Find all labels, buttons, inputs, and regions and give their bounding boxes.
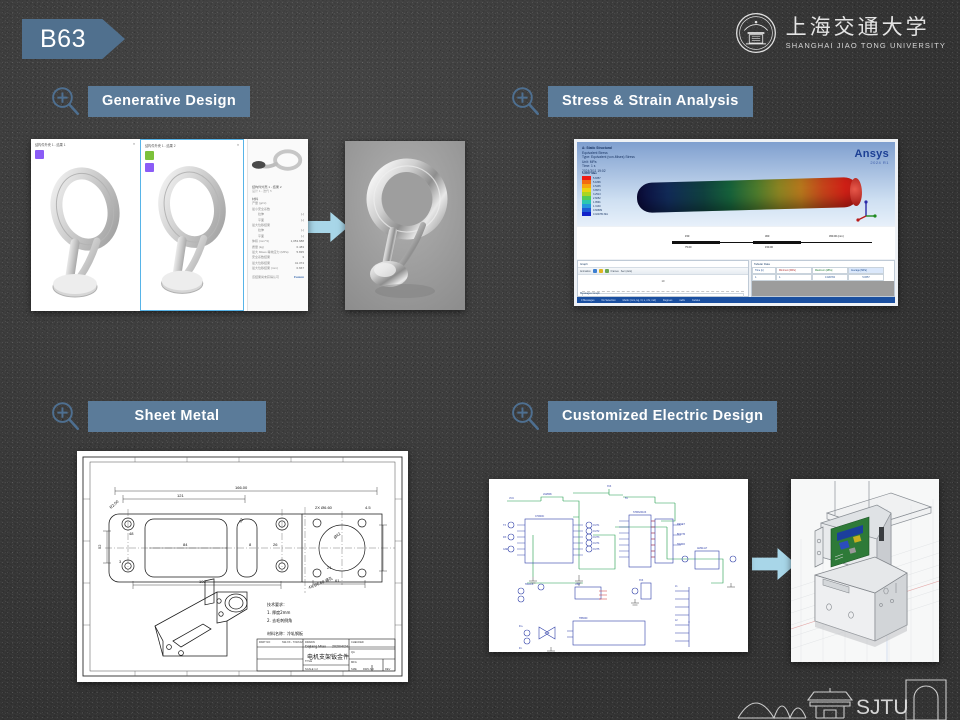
outcome-details-panel[interactable]: 结构件外壳 1 - 结果 2 设计 1 - 迭代 5 材料 产量 (g/cc) …	[247, 139, 308, 311]
svg-text:SWCLK: SWCLK	[525, 583, 534, 586]
ansys-result-title: A: Static Structural Equivalent Stress T…	[582, 146, 635, 174]
dim-sub: 75.00	[685, 246, 692, 249]
column-header: Minimum [MPa]	[776, 267, 812, 274]
legend-value: 5.1896	[593, 181, 601, 184]
svg-text:121: 121	[177, 493, 184, 498]
svg-text:OUT2: OUT2	[593, 530, 600, 533]
ansys-contour-legend: 5.8357 Max 5.8357 5.1896 4.5435 3.8974 3…	[582, 171, 616, 216]
outcome-b-title: 结构件外壳 1 - 结果 2	[145, 143, 175, 148]
dim-label: 150	[685, 235, 689, 238]
svg-text:5V: 5V	[625, 497, 628, 500]
enclosure-assembly-view[interactable]	[791, 479, 939, 662]
outcome-a-close-icon[interactable]: ×	[133, 142, 135, 147]
note-line: 材料名称：冷轧钢板	[267, 630, 303, 636]
svg-text:SW-XX - 7X18-02: SW-XX - 7X18-02	[282, 640, 303, 644]
sheet-metal-drawing[interactable]: 166.00 121 100 84 8 26 52 61 21 4.5 R2.0…	[77, 451, 408, 682]
status-item: rad/s	[679, 299, 685, 302]
column-header: Average [MPa]	[848, 267, 884, 274]
svg-text:DRAWN: DRAWN	[305, 640, 315, 644]
svg-text:IN-: IN-	[519, 647, 522, 650]
outcome-b-3d-view[interactable]	[141, 158, 243, 305]
svg-text:SCALE 1:2: SCALE 1:2	[305, 667, 318, 671]
svg-text:166.00: 166.00	[235, 485, 248, 490]
section-header-electric-design: Customized Electric Design	[508, 399, 777, 433]
legend-value: 2.6052	[593, 197, 601, 200]
ansys-3d-viewport[interactable]: A: Static Structural Equivalent Stress T…	[577, 142, 895, 226]
ansys-brand: Ansys 2024 R1	[854, 148, 889, 165]
svg-text:48: 48	[129, 531, 134, 536]
outcome-card-a[interactable]: 结构件外壳 1 - 结果 1 ×	[31, 139, 139, 311]
tabular-data-pane[interactable]: Tabular Data Time [s] Minimum [MPa] Maxi…	[751, 260, 895, 297]
svg-text:USB: USB	[575, 583, 580, 586]
ansys-screenshot[interactable]: A: Static Structural Equivalent Stress T…	[574, 139, 898, 306]
stop-icon[interactable]	[605, 269, 609, 273]
detail-label: 最大位移结果 (mm)	[252, 266, 278, 271]
note-line: 技术要求：	[267, 601, 287, 607]
details-footer: 该结果尚未获得认可	[252, 275, 279, 280]
status-item: No Selection	[601, 299, 615, 302]
note-line: 1. 厚度2mm	[267, 609, 291, 615]
section-header-sheet-metal: Sheet Metal	[48, 399, 266, 433]
schematic-canvas[interactable]: VCCLM2596 3V35V CH340CSTM32F103 AMS1117T…	[489, 479, 748, 652]
drawn-date: 2020/4/24	[332, 645, 348, 649]
svg-text:TX: TX	[503, 524, 506, 527]
svg-text:AMS1117: AMS1117	[697, 547, 708, 550]
legend-max: 5.8357 Max	[582, 171, 616, 175]
exploded-enclosure-model[interactable]	[791, 479, 939, 662]
sjtu-campus-watermark-icon: SJTU	[736, 674, 952, 720]
electric-schematic[interactable]: VCCLM2596 3V35V CH340CSTM32F103 AMS1117T…	[489, 479, 748, 652]
pause-icon[interactable]	[599, 269, 603, 273]
column-header: Time [s]	[752, 267, 776, 274]
svg-text:61: 61	[335, 578, 340, 583]
svg-text:SWDIO: SWDIO	[677, 543, 685, 546]
svg-text:TB6600: TB6600	[579, 617, 588, 620]
column-header: Maximum [MPa]	[812, 267, 848, 274]
thumbnail-subcaption: 设计 1 - 迭代 5	[252, 189, 272, 194]
rendered-part-preview[interactable]	[345, 141, 465, 310]
legend-value: 4.5435	[593, 185, 601, 188]
section-label-sheet-metal: Sheet Metal	[88, 401, 266, 432]
cad-drawing-canvas[interactable]: 166.00 121 100 84 8 26 52 61 21 4.5 R2.0…	[77, 451, 408, 682]
outcome-card-b[interactable]: 结构件外壳 1 - 结果 2 ×	[140, 139, 244, 311]
svg-text:QA: QA	[351, 650, 355, 654]
cell: 0.020784	[812, 274, 848, 281]
graph-toolbar-item[interactable]: Sec (Auto)	[621, 270, 632, 273]
svg-text:BOOT0: BOOT0	[677, 533, 686, 536]
cell: 1.	[752, 274, 776, 281]
drawn-by: Dajiang Miao	[305, 645, 326, 649]
svg-text:CHECKED: CHECKED	[351, 640, 364, 644]
outcome-a-3d-view[interactable]	[31, 157, 139, 311]
messages-label[interactable]: Messages Graph	[580, 292, 600, 295]
fusion-badge: Fusion	[294, 275, 304, 280]
dim-label: 300	[765, 235, 769, 238]
stress-contour-beam	[637, 177, 860, 213]
status-item: 0 Messages	[581, 299, 594, 302]
svg-text:SIZE: SIZE	[351, 667, 357, 671]
magnifier-plus-icon	[508, 84, 542, 118]
sjtu-seal-icon	[735, 12, 777, 54]
ansys-brand-name: Ansys	[854, 148, 889, 160]
graph-pane[interactable]: Graph Animation Frames Sec (Auto) 10 Mes…	[577, 260, 749, 297]
section-label-electric-design: Customized Electric Design	[548, 401, 777, 432]
table-row: 1. 1. 0.020784 5.8357	[752, 274, 894, 281]
graph-toolbar[interactable]: Animation Frames Sec (Auto)	[578, 267, 748, 275]
outcome-thumbnail	[249, 142, 307, 182]
dim-sub: 150.00	[765, 246, 773, 249]
legend-value: 0.66689	[593, 209, 602, 212]
magnifier-plus-icon	[48, 399, 82, 433]
svg-text:OUT5: OUT5	[593, 548, 600, 551]
svg-text:26: 26	[273, 542, 278, 547]
detail-value: 0.667	[296, 266, 304, 271]
svg-text:84: 84	[183, 542, 188, 547]
legend-value: 3.8974	[593, 189, 601, 192]
section-label-generative-design: Generative Design	[88, 86, 250, 117]
cell: 5.8357	[848, 274, 884, 281]
svg-text:REV: REV	[385, 667, 391, 671]
legend-value: 1.9591	[593, 201, 601, 204]
svg-text:IN+: IN+	[519, 625, 523, 628]
graph-value: 10	[662, 280, 665, 283]
svg-text:DWG NO: DWG NO	[363, 667, 374, 671]
svg-text:RX: RX	[503, 536, 507, 539]
ansys-version: 2024 R1	[854, 160, 889, 165]
triad-axes-icon	[855, 198, 877, 222]
sjtu-logo: 上海交通大学 SHANGHAI JIAO TONG UNIVERSITY	[735, 12, 946, 54]
status-item: Metric (mm, kg, N, s, mV, mA)	[623, 299, 656, 302]
ansys-status-bar: 0 Messages No Selection Metric (mm, kg, …	[577, 297, 895, 303]
outcome-b-close-icon[interactable]: ×	[237, 143, 239, 148]
magnifier-plus-icon	[508, 399, 542, 433]
ansys-dimension-strip: 150 75.00 300 150.00 450.00 (mm)	[577, 227, 895, 259]
section-label-stress-strain: Stress & Strain Analysis	[548, 86, 753, 117]
svg-text:LM2596: LM2596	[543, 493, 552, 496]
svg-text:52: 52	[97, 544, 102, 549]
magnifier-plus-icon	[48, 84, 82, 118]
generative-design-screenshot[interactable]: 结构件外壳 1 - 结果 1 × 结构件外壳 1 - 结果 2 ×	[31, 139, 308, 311]
section-header-stress-strain: Stress & Strain Analysis	[508, 84, 753, 118]
legend-value: 0.020784 Min	[593, 213, 608, 216]
detail-value: (-)	[301, 218, 304, 223]
svg-text:MFG: MFG	[351, 660, 357, 664]
svg-text:OUT1: OUT1	[593, 524, 600, 527]
section-header-generative-design: Generative Design	[48, 84, 250, 118]
svg-text:PART NO: PART NO	[259, 640, 270, 644]
svg-text:VCC: VCC	[509, 497, 514, 500]
svg-text:CH340C: CH340C	[535, 515, 544, 518]
play-icon[interactable]	[593, 269, 597, 273]
outcome-a-title: 结构件外壳 1 - 结果 1	[35, 142, 65, 147]
legend-value: 5.8357	[593, 177, 601, 180]
legend-value: 1.3130	[593, 205, 601, 208]
svg-text:RESET: RESET	[677, 523, 686, 526]
sjtu-name-en: SHANGHAI JIAO TONG UNIVERSITY	[786, 42, 946, 50]
cell: 1.	[776, 274, 812, 281]
metal-ring-hook-render	[345, 141, 465, 310]
graph-toolbar-item[interactable]: Frames	[611, 270, 619, 273]
watermark-text: SJTU	[856, 696, 909, 719]
graph-toolbar-item[interactable]: Animation	[580, 270, 591, 273]
part-title: 电机支架钣金件	[307, 653, 349, 661]
svg-text:OUT3: OUT3	[593, 536, 600, 539]
svg-text:3V3: 3V3	[639, 579, 644, 582]
svg-text:4.5: 4.5	[365, 505, 371, 510]
sjtu-name-cn: 上海交通大学	[786, 17, 946, 38]
svg-text:STM32F103: STM32F103	[633, 511, 647, 514]
note-line: 2. 去毛刺倒角	[267, 617, 292, 623]
tabular-header-row: Time [s] Minimum [MPa] Maximum [MPa] Ave…	[752, 267, 894, 274]
svg-text:2X Ø6.60: 2X Ø6.60	[315, 505, 333, 510]
status-item: Celsius	[692, 299, 700, 302]
dim-label: 450.00 (mm)	[829, 235, 844, 238]
svg-text:OUT4: OUT4	[593, 542, 600, 545]
svg-text:GND: GND	[503, 548, 509, 551]
svg-text:21: 21	[327, 565, 332, 570]
svg-text:3V3: 3V3	[607, 485, 612, 488]
thumbnail-caption: 结构件外壳 1 - 结果 2	[248, 182, 308, 189]
legend-value: 3.2513	[593, 193, 601, 196]
ansys-lower-panes[interactable]: Graph Animation Frames Sec (Auto) 10 Mes…	[577, 260, 895, 297]
status-item: Degrees	[663, 299, 672, 302]
